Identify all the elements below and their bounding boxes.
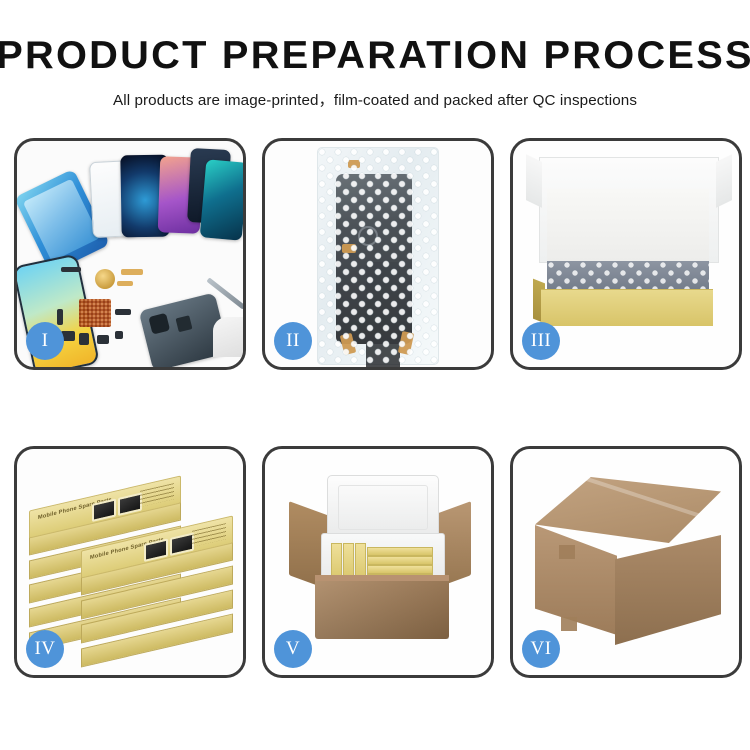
bubble-texture: [318, 148, 438, 364]
step-1-image: I: [17, 141, 243, 367]
process-step-6: VI: [510, 446, 742, 678]
process-step-1: I: [14, 138, 246, 370]
step-badge-1: I: [26, 322, 64, 360]
carton-tape-graphic: [559, 545, 575, 559]
carton-right-face-graphic: [615, 535, 721, 645]
step-badge-4: IV: [26, 630, 64, 668]
page-title: PRODUCT PREPARATION PROCESS: [0, 36, 750, 77]
process-grid: I II: [14, 138, 736, 678]
box-window-graphic: [118, 492, 142, 516]
chip-part-graphic: [79, 333, 89, 345]
box-front-graphic: [541, 289, 713, 326]
step-2-image: II: [265, 141, 491, 367]
process-step-5: V: [262, 446, 494, 678]
box-window-graphic: [144, 538, 168, 562]
flex-cable-graphic: [121, 269, 143, 275]
process-step-2: II: [262, 138, 494, 370]
process-step-3: III: [510, 138, 742, 370]
step-4-image: Mobile Phone Spare Parts Mobile Phone Sp…: [17, 449, 243, 675]
chip-part-graphic: [115, 309, 131, 315]
chip-part-graphic: [115, 331, 123, 339]
step-5-image: V: [265, 449, 491, 675]
step-badge-5: V: [274, 630, 312, 668]
step-badge-2: II: [274, 322, 312, 360]
box-window-graphic: [92, 498, 116, 522]
header: PRODUCT PREPARATION PROCESS All products…: [0, 0, 750, 110]
flex-cable-graphic: [117, 281, 133, 286]
hand-graphic: [213, 317, 243, 357]
step-3-image: III: [513, 141, 739, 367]
phone-screen-teal-graphic: [200, 159, 243, 240]
box-back-wall-graphic: [547, 189, 709, 267]
copper-mesh-graphic: [79, 299, 111, 327]
chip-part-graphic: [97, 335, 109, 344]
infographic-page: PRODUCT PREPARATION PROCESS All products…: [0, 0, 750, 750]
process-step-4: Mobile Phone Spare Parts Mobile Phone Sp…: [14, 446, 246, 678]
copper-coil-graphic: [95, 269, 115, 289]
carton-tape-graphic: [561, 617, 577, 631]
carton-front-graphic: [315, 581, 449, 639]
bubble-wrap-bag-graphic: [317, 147, 439, 365]
box-spec-lines-graphic: [140, 483, 174, 507]
box-spec-lines-graphic: [192, 523, 226, 547]
chip-part-graphic: [57, 309, 63, 325]
foam-lid-graphic: [327, 475, 439, 539]
box-window-graphic: [170, 532, 194, 556]
step-badge-3: III: [522, 322, 560, 360]
carton-top-face-graphic: [535, 477, 721, 543]
step-badge-6: VI: [522, 630, 560, 668]
page-subtitle: All products are image-printed，film-coat…: [0, 88, 750, 110]
chip-part-graphic: [61, 267, 81, 272]
step-6-image: VI: [513, 449, 739, 675]
